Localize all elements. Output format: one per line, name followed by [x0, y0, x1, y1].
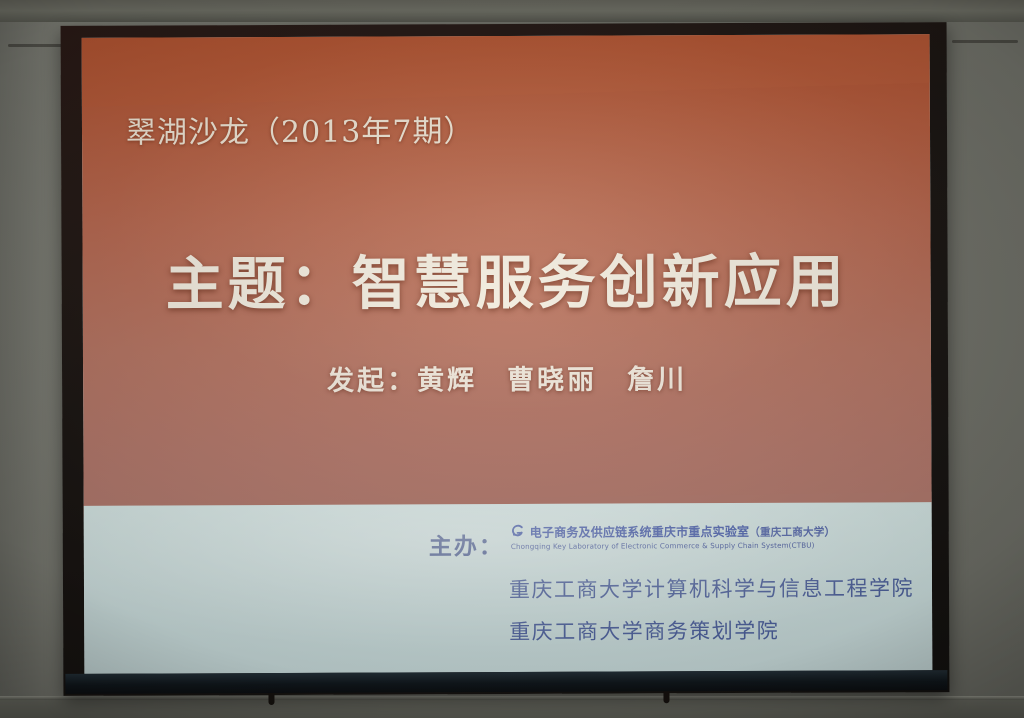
screen-hook-right	[663, 691, 669, 703]
lab-banner-row: 电子商务及供应链系统重庆市重点实验室（重庆工商大学）	[509, 521, 839, 541]
lab-name-cn: 电子商务及供应链系统重庆市重点实验室（重庆工商大学）	[530, 521, 836, 541]
screen-bottom-bar	[65, 670, 947, 694]
lab-name-cn-main: 电子商务及供应链系统重庆市重点实验室	[530, 524, 750, 540]
slide-footer-panel: 主办： 电子商务及供应链系统重庆市重点实验室（重庆工商大学） Chongqin	[84, 502, 933, 674]
lab-name-cn-paren: （重庆工商大学）	[749, 526, 835, 539]
lab-name-en: Chongqing Key Laboratory of Electronic C…	[511, 541, 836, 551]
projection-screen-surface: 主办： 电子商务及供应链系统重庆市重点实验室（重庆工商大学） Chongqin	[82, 34, 933, 674]
college-line-2: 重庆工商大学商务策划学院	[509, 615, 779, 646]
lab-banner: 电子商务及供应链系统重庆市重点实验室（重庆工商大学） Chongqing Key…	[509, 521, 839, 551]
host-label: 主办：	[429, 527, 504, 561]
projection-screen-frame: 主办： 电子商务及供应链系统重庆市重点实验室（重庆工商大学） Chongqin	[61, 22, 950, 696]
slide-title: 主题：智慧服务创新应用	[82, 234, 930, 322]
ceiling-rail-right	[952, 40, 1018, 43]
swirl-g-logo-icon	[509, 523, 526, 540]
ceiling-band	[0, 0, 1024, 24]
room-scene: 主办： 电子商务及供应链系统重庆市重点实验室（重庆工商大学） Chongqin	[0, 0, 1024, 718]
college-line-1: 重庆工商大学计算机科学与信息工程学院	[509, 572, 914, 604]
slide-presenters: 发起：黄辉 曹晓丽 詹川	[83, 356, 931, 399]
slide-kicker: 翠湖沙龙（2013年7期）	[126, 106, 475, 152]
wall-lower-band	[0, 700, 1024, 718]
wall-shadow	[0, 22, 70, 718]
screen-hook-left	[268, 693, 274, 705]
ceiling-rail-left	[8, 44, 64, 47]
